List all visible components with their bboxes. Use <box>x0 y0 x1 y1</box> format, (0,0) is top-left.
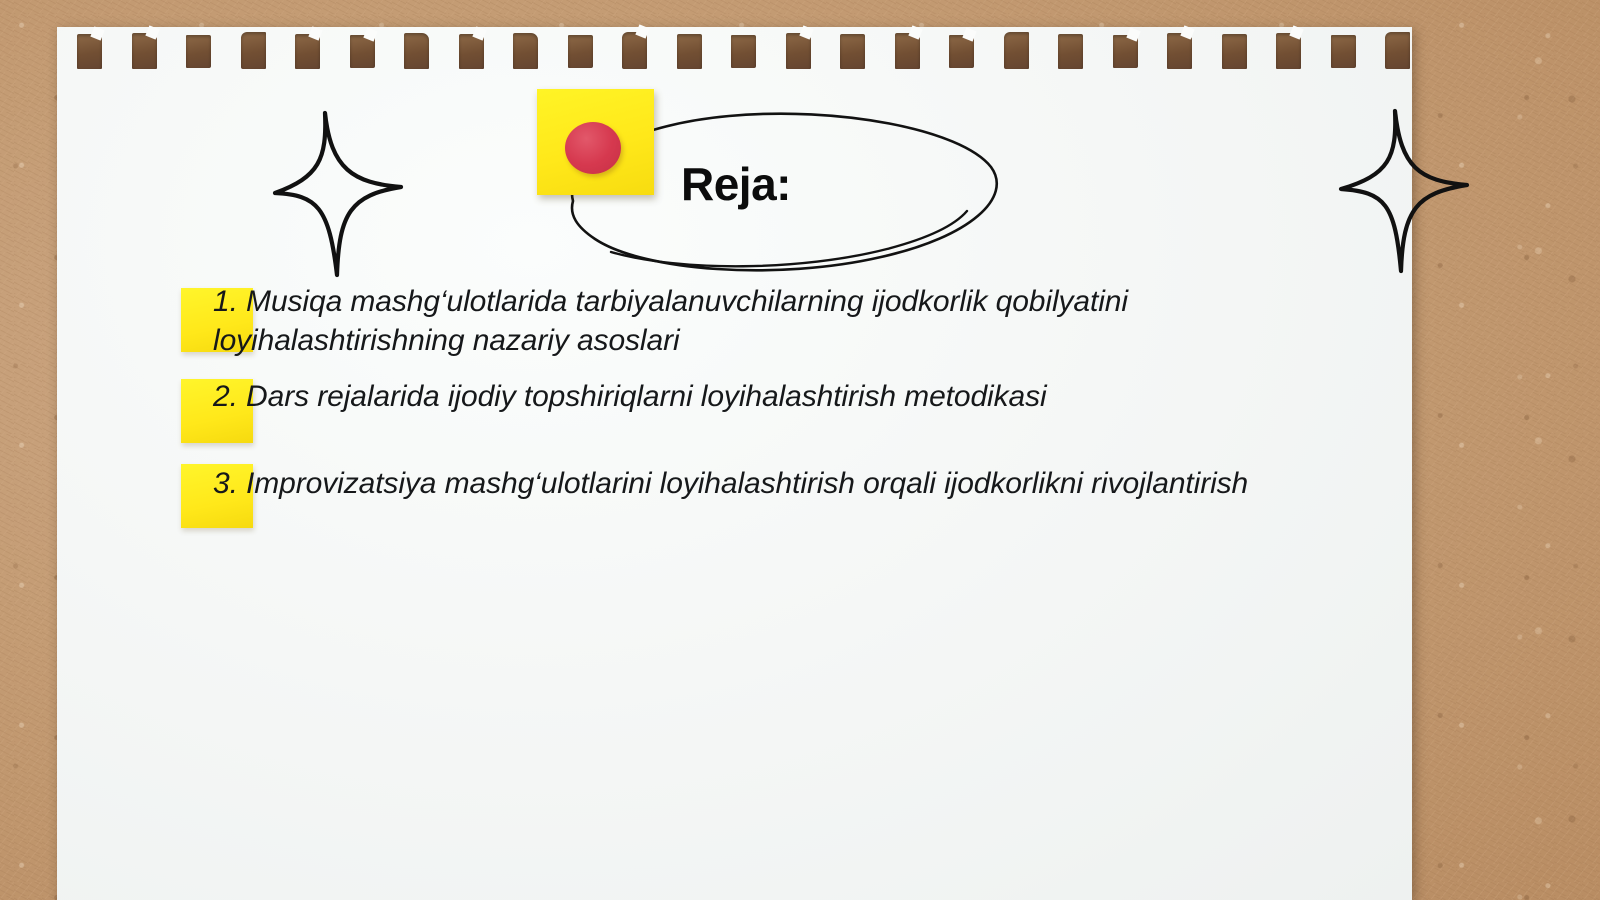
list-item: 3. Improvizatsiya mashg‘ulotlarini loyih… <box>181 464 1361 503</box>
list-item-text: 3. Improvizatsiya mashg‘ulotlarini loyih… <box>213 464 1361 503</box>
binding-hole <box>1331 35 1356 68</box>
binding-hole <box>295 34 320 69</box>
cork-board-background: Reja: 1. Musiqa mashg‘ulotlarida tarbiya… <box>0 0 1600 900</box>
binding-hole <box>186 35 211 68</box>
binding-hole <box>840 34 865 69</box>
binding-hole-nick <box>363 27 377 41</box>
binding-hole-nick <box>308 26 322 40</box>
sparkle-star-icon <box>1329 107 1469 275</box>
binding-hole <box>1058 34 1083 69</box>
binding-hole-nick <box>962 27 976 41</box>
sticky-note[interactable] <box>537 89 654 195</box>
binding-hole <box>513 33 538 69</box>
list-item-text: 1. Musiqa mashg‘ulotlarida tarbiyalanuvc… <box>213 282 1361 361</box>
binding-hole <box>895 33 920 69</box>
binding-hole <box>731 35 756 68</box>
binding-hole-nick <box>1180 25 1194 39</box>
binding-hole <box>622 32 647 69</box>
binding-hole-nick <box>90 26 104 40</box>
binding-hole <box>1167 33 1192 69</box>
binding-hole <box>786 33 811 69</box>
sparkle-star-icon <box>267 107 407 282</box>
binding-hole-nick <box>799 25 813 39</box>
list-item: 2. Dars rejalarida ijodiy topshiriqlarni… <box>181 377 1361 416</box>
notepad-paper-sheet: Reja: 1. Musiqa mashg‘ulotlarida tarbiya… <box>57 27 1412 900</box>
binding-hole <box>77 34 102 69</box>
binding-hole-nick <box>472 26 486 40</box>
binding-hole <box>1113 35 1138 68</box>
binding-hole <box>241 32 266 69</box>
spiral-binding-holes <box>57 27 1412 77</box>
binding-hole <box>132 33 157 69</box>
red-dot-marker <box>565 122 621 174</box>
binding-hole <box>949 35 974 68</box>
binding-hole <box>677 34 702 69</box>
binding-hole-nick <box>908 25 922 39</box>
plan-list: 1. Musiqa mashg‘ulotlarida tarbiyalanuvc… <box>181 282 1361 525</box>
binding-hole <box>404 33 429 69</box>
binding-hole-nick <box>145 25 159 39</box>
binding-hole <box>568 35 593 68</box>
binding-hole-nick <box>1126 27 1140 41</box>
page-title: Reja: <box>681 157 791 211</box>
binding-hole <box>459 34 484 69</box>
binding-hole <box>1004 32 1029 69</box>
list-item-text: 2. Dars rejalarida ijodiy topshiriqlarni… <box>213 377 1361 416</box>
binding-hole <box>1276 33 1301 69</box>
list-item: 1. Musiqa mashg‘ulotlarida tarbiyalanuvc… <box>181 282 1361 361</box>
binding-hole-nick <box>1289 25 1303 39</box>
binding-hole <box>1385 32 1410 69</box>
binding-hole <box>350 35 375 68</box>
binding-hole-nick <box>635 24 649 38</box>
binding-hole <box>1222 34 1247 69</box>
